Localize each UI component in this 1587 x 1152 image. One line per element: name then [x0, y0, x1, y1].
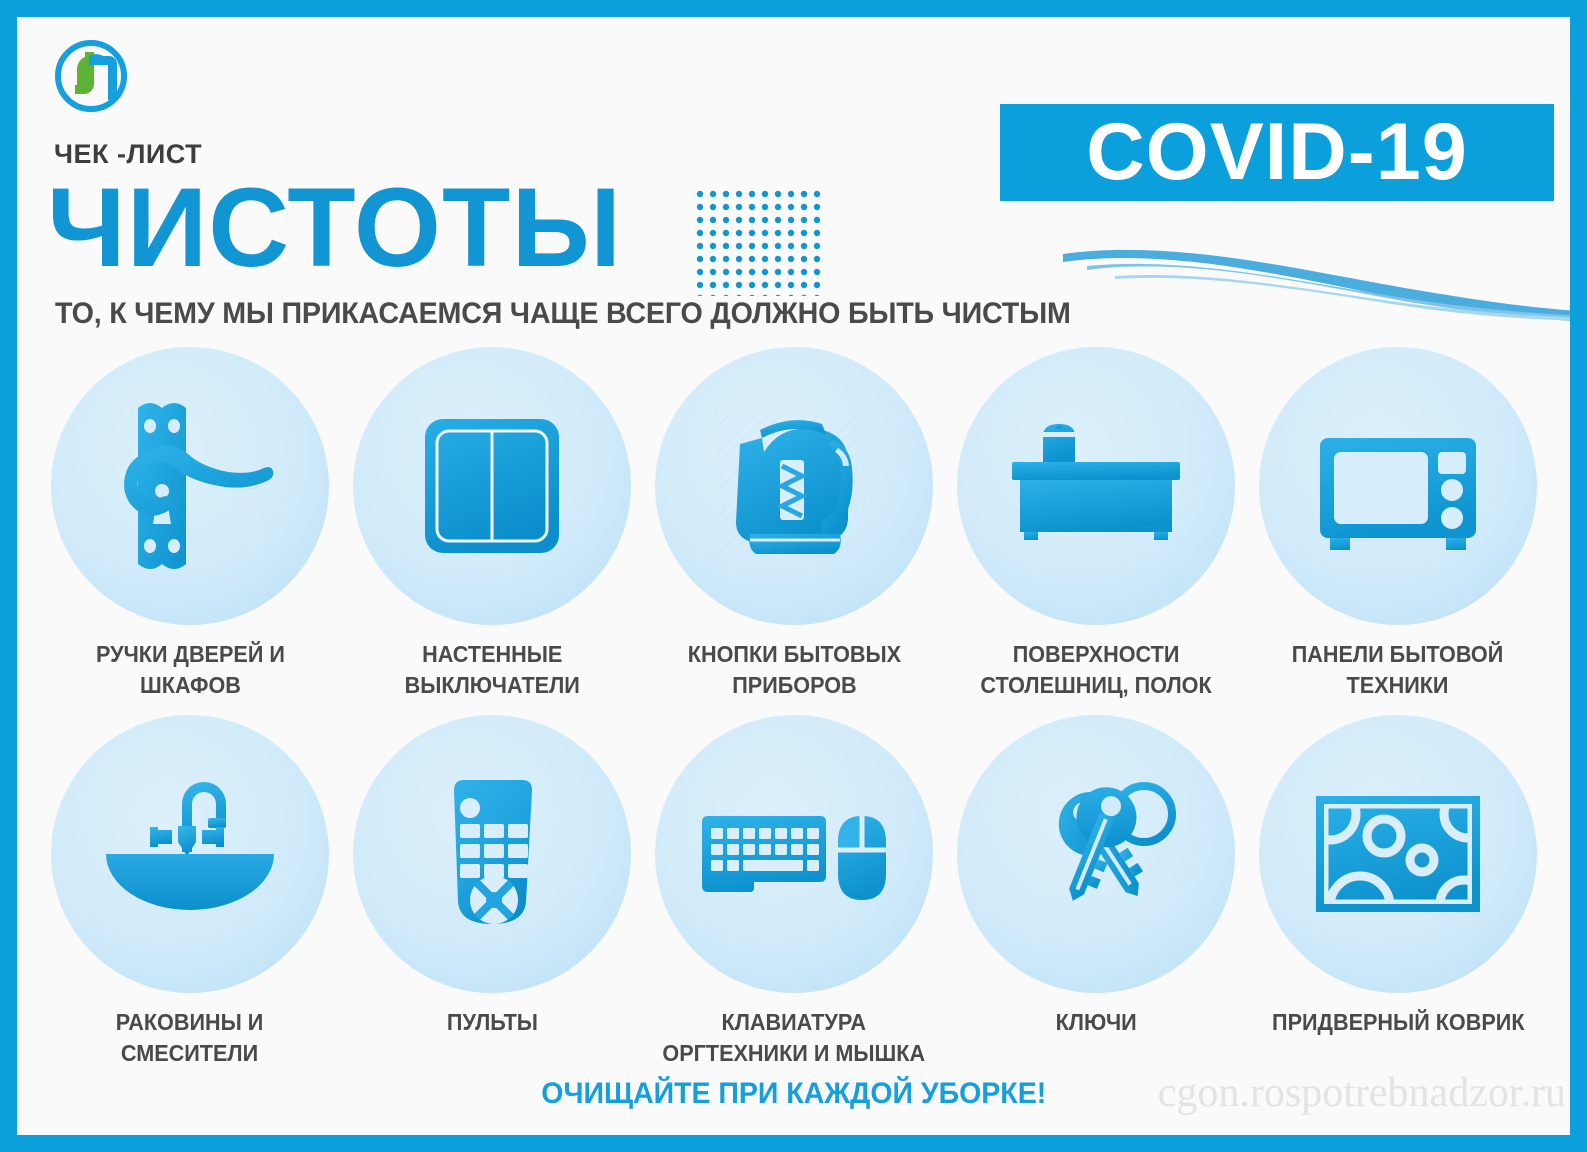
icon-bubble [655, 347, 933, 625]
icon-bubble [1259, 347, 1537, 625]
keyboard-mouse-icon [694, 754, 894, 954]
electric-kettle-icon [694, 386, 894, 586]
checklist-item: ПРИДВЕРНЫЙ КОВРИК [1247, 701, 1549, 1069]
light-switch-icon [392, 386, 592, 586]
remote-control-icon [392, 754, 592, 954]
covid-badge-label: COVID-19 [1086, 112, 1468, 193]
checklist-item: ПАНЕЛИ БЫТОВОЙТЕХНИКИ [1247, 347, 1549, 701]
icon-bubble [957, 347, 1235, 625]
wave-brush-decoration [1057, 232, 1570, 322]
doormat-icon [1298, 754, 1498, 954]
countertop-icon [996, 386, 1196, 586]
page-title: ЧИСТОТЫ [47, 172, 622, 284]
checklist-grid: РУЧКИ ДВЕРЕЙ ИШКАФОВ [39, 347, 1549, 1069]
covid-badge: COVID-19 [1000, 104, 1554, 201]
microwave-icon [1298, 386, 1498, 586]
door-handle-icon [90, 386, 290, 586]
checklist-item-label: НАСТЕННЫЕВЫКЛЮЧАТЕЛИ [404, 639, 579, 701]
icon-bubble [51, 347, 329, 625]
checklist-item-label: КЛАВИАТУРАОРГТЕХНИКИ И МЫШКА [663, 1007, 926, 1069]
icon-bubble [51, 715, 329, 993]
icon-bubble [655, 715, 933, 993]
keys-icon [996, 754, 1196, 954]
poster-root: ЧЕК -ЛИСТ ЧИСТОТЫ ТО, К ЧЕМУ МЫ ПРИКАСАЕ… [0, 0, 1587, 1152]
dot-grid-decoration [696, 190, 824, 296]
checklist-item-label: КНОПКИ БЫТОВЫХПРИБОРОВ [687, 639, 900, 701]
checklist-item: КЛЮЧИ [945, 701, 1247, 1069]
footer-call-to-action-label: ОЧИЩАЙТЕ ПРИ КАЖДОЙ УБОРКЕ! [541, 1077, 1046, 1111]
site-watermark: cgon.rospotrebnadzor.ru [1158, 1069, 1566, 1117]
icon-bubble [957, 715, 1235, 993]
rospotrebnadzor-cgon-logo-icon [53, 38, 129, 114]
checklist-item: НАСТЕННЫЕВЫКЛЮЧАТЕЛИ [341, 347, 643, 701]
checklist-item-label: ПРИДВЕРНЫЙ КОВРИК [1272, 1007, 1524, 1038]
checklist-item-label: ПАНЕЛИ БЫТОВОЙТЕХНИКИ [1292, 639, 1504, 701]
checklist-item: РАКОВИНЫ ИСМЕСИТЕЛИ [39, 701, 341, 1069]
checklist-item: РУЧКИ ДВЕРЕЙ ИШКАФОВ [39, 347, 341, 701]
icon-bubble [353, 347, 631, 625]
checklist-item-label: ПУЛЬТЫ [446, 1007, 537, 1038]
icon-bubble [1259, 715, 1537, 993]
checklist-item: ПОВЕРХНОСТИСТОЛЕШНИЦ, ПОЛОК [945, 347, 1247, 701]
sink-faucet-icon [90, 754, 290, 954]
page-subtitle: ТО, К ЧЕМУ МЫ ПРИКАСАЕМСЯ ЧАЩЕ ВСЕГО ДОЛ… [55, 297, 1071, 331]
checklist-item-label: РАКОВИНЫ ИСМЕСИТЕЛИ [116, 1007, 264, 1069]
icon-bubble [353, 715, 631, 993]
checklist-item: КЛАВИАТУРАОРГТЕХНИКИ И МЫШКА [643, 701, 945, 1069]
poster-inner: ЧЕК -ЛИСТ ЧИСТОТЫ ТО, К ЧЕМУ МЫ ПРИКАСАЕ… [17, 17, 1570, 1135]
checklist-item: КНОПКИ БЫТОВЫХПРИБОРОВ [643, 347, 945, 701]
checklist-item-label: РУЧКИ ДВЕРЕЙ ИШКАФОВ [96, 639, 285, 701]
checklist-item-label: КЛЮЧИ [1055, 1007, 1136, 1038]
checklist-item-label: ПОВЕРХНОСТИСТОЛЕШНИЦ, ПОЛОК [980, 639, 1211, 701]
checklist-item: ПУЛЬТЫ [341, 701, 643, 1069]
